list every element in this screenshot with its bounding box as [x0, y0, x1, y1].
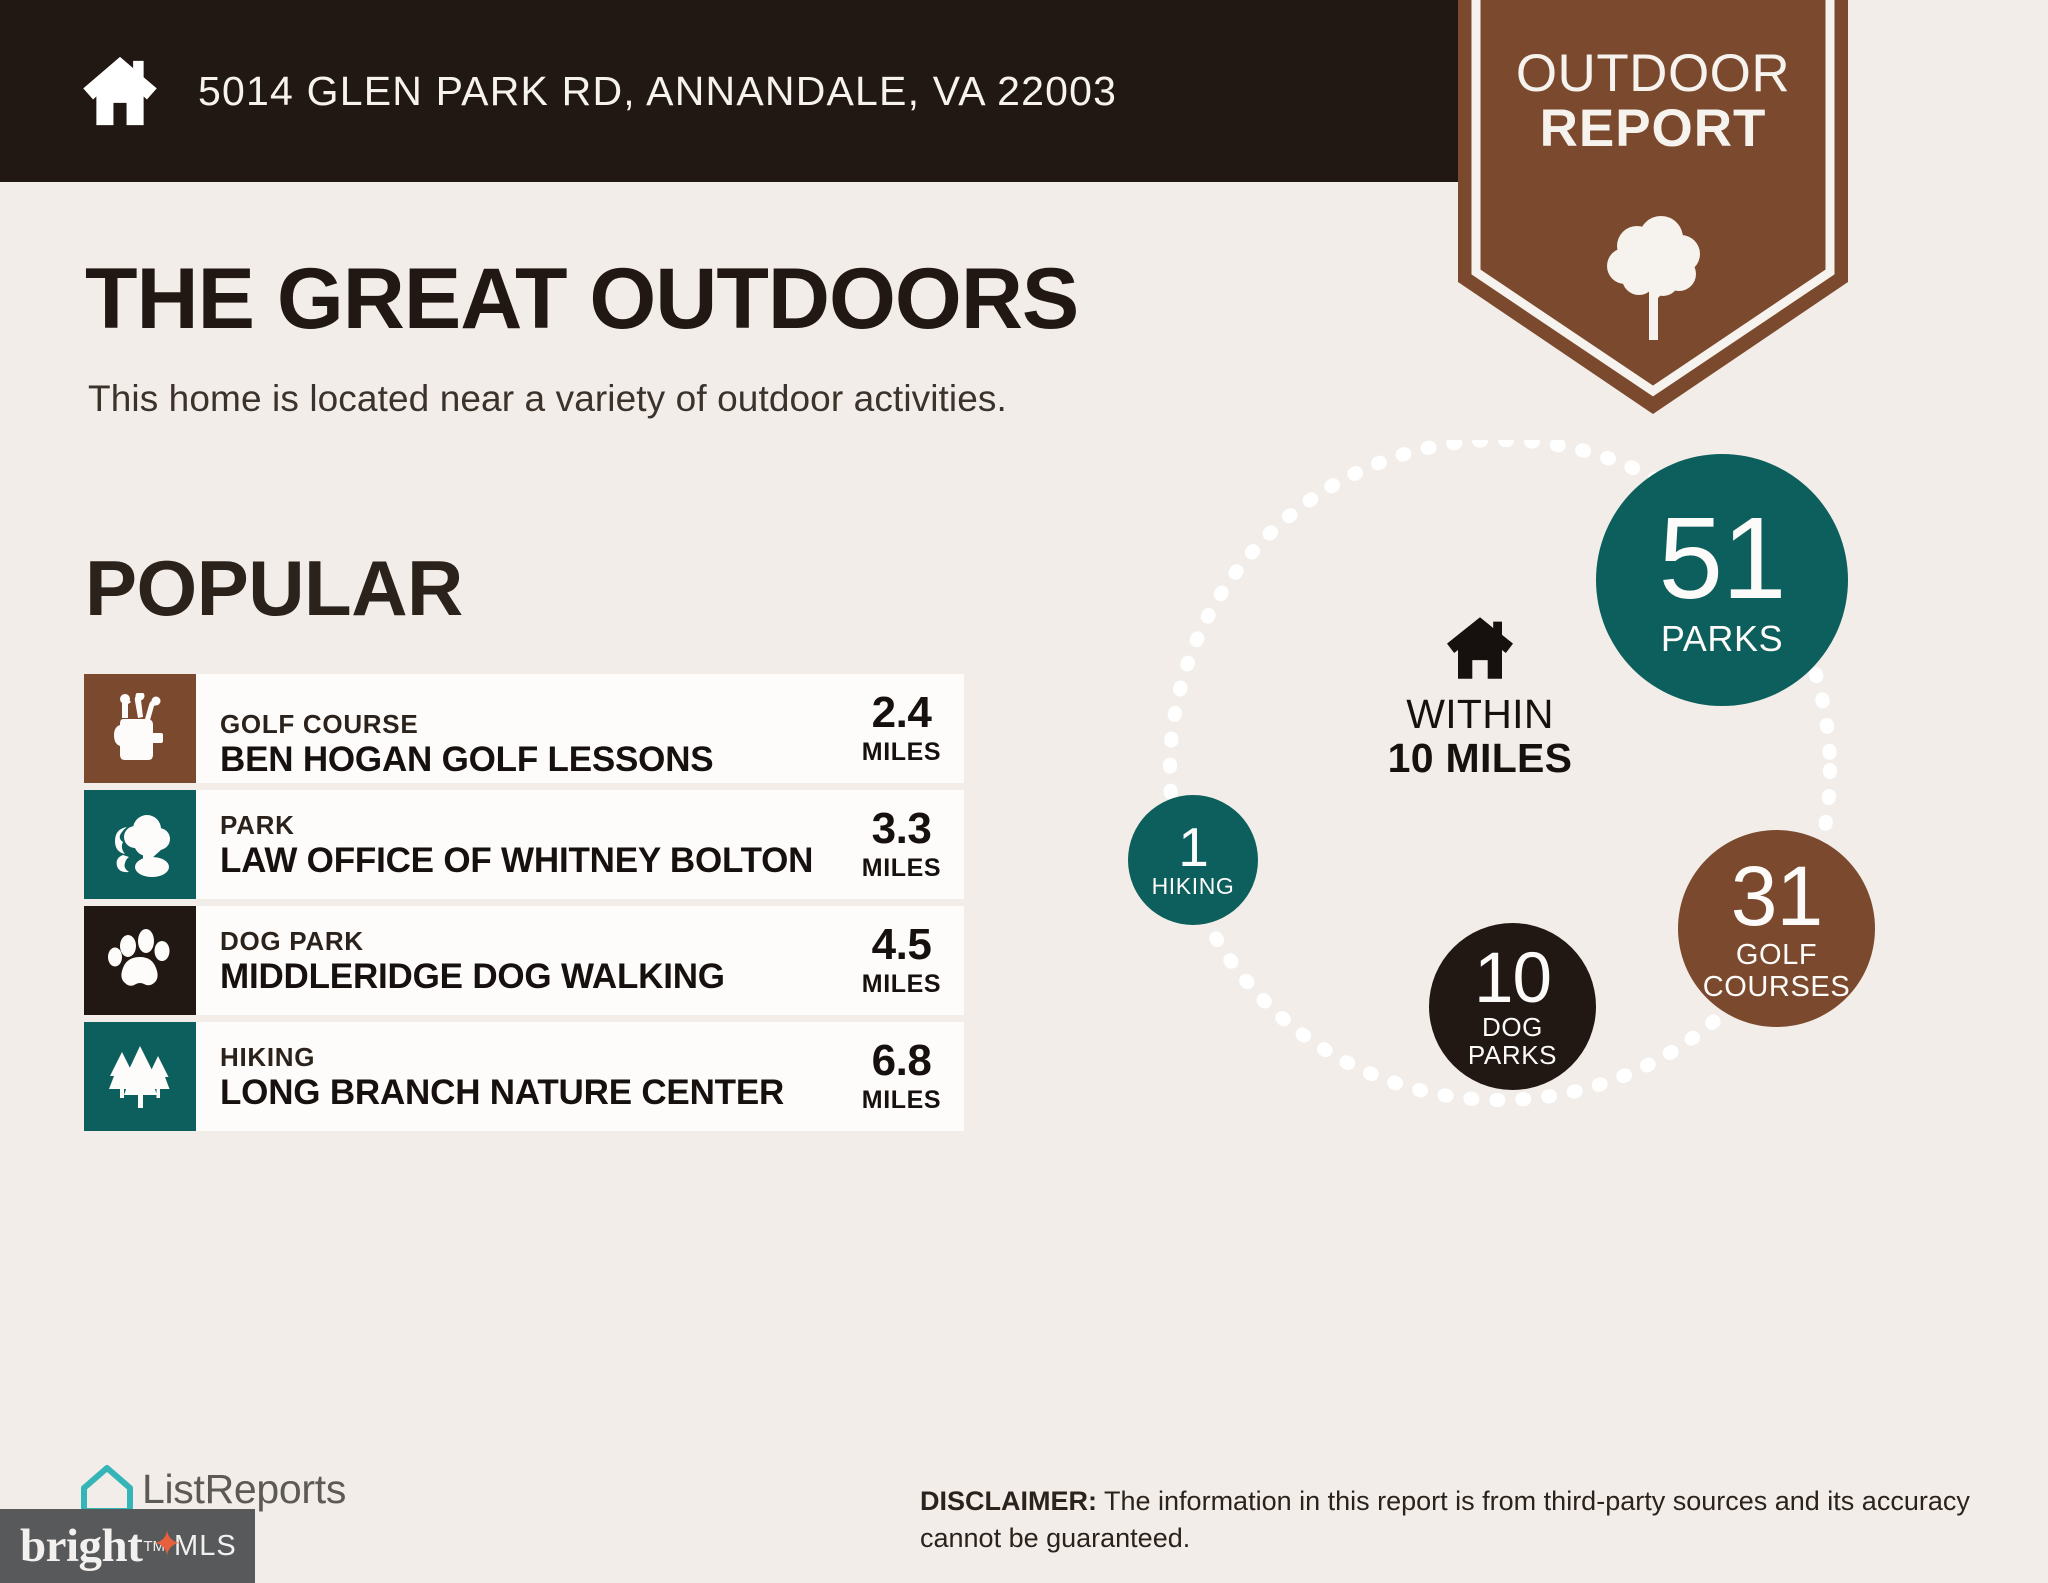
list-item-name: LAW OFFICE OF WHITNEY BOLTON	[220, 842, 813, 880]
outdoor-report-page: 5014 GLEN PARK RD, ANNANDALE, VA 22003 O…	[0, 0, 2048, 1583]
distance-value: 2.4	[849, 691, 954, 735]
stat-value: 31	[1731, 855, 1822, 937]
list-item-name: BEN HOGAN GOLF LESSONS	[220, 741, 713, 779]
distance-unit: MILES	[849, 970, 954, 999]
list-item-category: HIKING	[220, 1041, 784, 1074]
distance-value: 6.8	[849, 1039, 954, 1083]
badge-text: OUTDOOR REPORT	[1458, 46, 1848, 156]
pine-trees-icon	[106, 1046, 174, 1108]
list-item-distance: 6.8 MILES	[849, 1022, 964, 1131]
stat-label-line2: PARKS	[1468, 1042, 1557, 1069]
stat-value: 10	[1474, 944, 1551, 1014]
distance-unit: MILES	[849, 1086, 954, 1115]
property-address: 5014 GLEN PARK RD, ANNANDALE, VA 22003	[198, 68, 1117, 115]
header-bar: 5014 GLEN PARK RD, ANNANDALE, VA 22003	[0, 0, 1503, 182]
paw-print-icon	[108, 929, 172, 993]
stat-label-line1: DOG	[1482, 1014, 1543, 1041]
stat-label: HIKING	[1152, 875, 1235, 899]
stat-value: 1	[1178, 821, 1208, 875]
stat-bubble-golf-courses[interactable]: 31 GOLF COURSES	[1678, 830, 1875, 1027]
list-item-icon-tile	[84, 790, 196, 899]
badge-line2: REPORT	[1458, 101, 1848, 156]
list-item-category: GOLF COURSE	[220, 708, 713, 741]
popular-list: GOLF COURSE BEN HOGAN GOLF LESSONS 2.4 M…	[84, 674, 964, 1138]
stat-bubble-dog-parks[interactable]: 10 DOG PARKS	[1429, 923, 1596, 1090]
list-item-body: PARK LAW OFFICE OF WHITNEY BOLTON	[196, 790, 849, 899]
within-10-miles-chart: 51 PARKS 31 GOLF COURSES 10 DOG PARKS 1 …	[1100, 440, 1980, 1360]
park-trees-icon	[107, 811, 173, 879]
stat-label-line2: COURSES	[1703, 972, 1851, 1002]
bright-mls-watermark: bright TM MLS ✦	[0, 1509, 255, 1583]
stat-bubble-parks[interactable]: 51 PARKS	[1596, 454, 1848, 706]
list-item-name: MIDDLERIDGE DOG WALKING	[220, 958, 725, 996]
disclaimer: DISCLAIMER: The information in this repo…	[920, 1483, 1980, 1556]
list-item[interactable]: GOLF COURSE BEN HOGAN GOLF LESSONS 2.4 M…	[84, 674, 964, 783]
list-item-name: LONG BRANCH NATURE CENTER	[220, 1074, 784, 1112]
popular-heading: POPULAR	[85, 549, 463, 627]
stat-bubble-hiking[interactable]: 1 HIKING	[1128, 795, 1258, 925]
badge-line1: OUTDOOR	[1516, 44, 1790, 103]
list-item-body: HIKING LONG BRANCH NATURE CENTER	[196, 1022, 849, 1131]
distance-value: 3.3	[849, 807, 954, 851]
center-note-line2: 10 MILES	[1360, 736, 1600, 782]
golf-bag-icon	[109, 693, 171, 765]
stat-label: PARKS	[1661, 620, 1783, 657]
list-item-category: PARK	[220, 809, 813, 842]
list-item-distance: 2.4 MILES	[849, 674, 964, 783]
disclaimer-label: DISCLAIMER:	[920, 1486, 1097, 1516]
listreports-wordmark: ListReports	[142, 1466, 346, 1513]
list-item-distance: 3.3 MILES	[849, 790, 964, 899]
list-item[interactable]: DOG PARK MIDDLERIDGE DOG WALKING 4.5 MIL…	[84, 906, 964, 1015]
stat-label-line1: GOLF	[1736, 940, 1817, 970]
list-item[interactable]: HIKING LONG BRANCH NATURE CENTER 6.8 MIL…	[84, 1022, 964, 1131]
list-item-body: DOG PARK MIDDLERIDGE DOG WALKING	[196, 906, 849, 1015]
page-title: THE GREAT OUTDOORS	[85, 256, 1078, 342]
house-outline-icon	[78, 1462, 136, 1516]
list-item-distance: 4.5 MILES	[849, 906, 964, 1015]
distance-value: 4.5	[849, 923, 954, 967]
distance-unit: MILES	[849, 854, 954, 883]
tree-icon	[1601, 212, 1705, 344]
list-item-category: DOG PARK	[220, 925, 725, 958]
list-item[interactable]: PARK LAW OFFICE OF WHITNEY BOLTON 3.3 MI…	[84, 790, 964, 899]
list-item-body: GOLF COURSE BEN HOGAN GOLF LESSONS	[196, 674, 849, 783]
list-item-icon-tile	[84, 906, 196, 1015]
stat-value: 51	[1658, 502, 1785, 616]
home-icon	[1444, 615, 1516, 681]
listreports-logo[interactable]: ListReports	[78, 1462, 346, 1516]
chart-center-note: WITHIN 10 MILES	[1360, 615, 1600, 782]
home-icon	[78, 49, 162, 133]
spark-icon: ✦	[152, 1526, 182, 1562]
outdoor-report-badge: OUTDOOR REPORT	[1458, 0, 1848, 414]
page-subtitle: This home is located near a variety of o…	[88, 378, 1007, 420]
bright-wordmark: bright	[20, 1519, 142, 1573]
list-item-icon-tile	[84, 1022, 196, 1131]
list-item-icon-tile	[84, 674, 196, 783]
distance-unit: MILES	[849, 738, 954, 767]
mls-wordmark: MLS	[174, 1530, 237, 1563]
center-note-line1: WITHIN	[1360, 693, 1600, 736]
